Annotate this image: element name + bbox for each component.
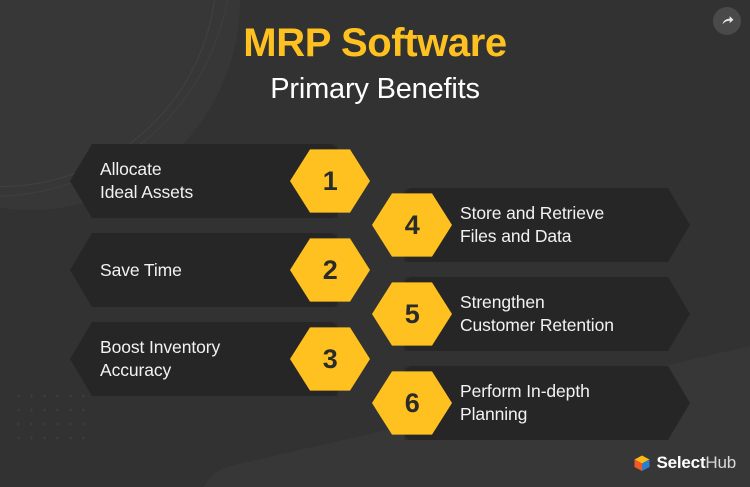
benefit-number: 5 (405, 301, 420, 328)
hexagon-badge-2[interactable]: 2 (290, 237, 370, 303)
selecthub-logo[interactable]: SelectHub (633, 453, 736, 473)
logo-wordmark: SelectHub (657, 453, 736, 473)
benefit-number: 6 (405, 390, 420, 417)
benefit-row-3[interactable]: Boost InventoryAccuracy 3 (70, 322, 370, 396)
benefit-badge[interactable]: 6 (372, 370, 452, 436)
benefit-label: AllocateIdeal Assets (100, 158, 193, 204)
benefit-badge[interactable]: 2 (290, 237, 370, 303)
benefit-number: 1 (323, 168, 338, 195)
benefit-row-1[interactable]: AllocateIdeal Assets 1 (70, 144, 370, 218)
title-subtitle: Primary Benefits (0, 69, 750, 109)
benefit-badge[interactable]: 3 (290, 326, 370, 392)
hexagon-badge-1[interactable]: 1 (290, 148, 370, 214)
hexagon-badge-3[interactable]: 3 (290, 326, 370, 392)
benefit-badge[interactable]: 5 (372, 281, 452, 347)
share-button[interactable] (713, 7, 741, 35)
hexagon-badge-4[interactable]: 4 (372, 192, 452, 258)
hexagon-badge-5[interactable]: 5 (372, 281, 452, 347)
benefit-badge[interactable]: 1 (290, 148, 370, 214)
benefit-row-6[interactable]: Perform In-depthPlanning 6 (372, 366, 690, 440)
logo-hub-text: Hub (705, 453, 736, 472)
logo-select-text: Select (657, 453, 706, 472)
benefit-badge[interactable]: 4 (372, 192, 452, 258)
page-title: MRP Software Primary Benefits (0, 18, 750, 109)
benefit-label: Store and RetrieveFiles and Data (460, 202, 604, 248)
benefit-label: Boost InventoryAccuracy (100, 336, 220, 382)
benefit-label: Save Time (100, 259, 182, 282)
hexagon-badge-6[interactable]: 6 (372, 370, 452, 436)
share-arrow-icon (720, 14, 735, 29)
benefit-row-2[interactable]: Save Time 2 (70, 233, 370, 307)
benefit-row-4[interactable]: Store and RetrieveFiles and Data 4 (372, 188, 690, 262)
benefit-number: 4 (405, 212, 420, 239)
title-main: MRP Software (0, 18, 750, 68)
infographic-canvas: MRP Software Primary Benefits AllocateId… (0, 0, 750, 487)
benefit-label: StrengthenCustomer Retention (460, 291, 614, 337)
benefit-number: 3 (323, 346, 338, 373)
benefit-row-5[interactable]: StrengthenCustomer Retention 5 (372, 277, 690, 351)
benefit-number: 2 (323, 257, 338, 284)
selecthub-cube-icon (633, 454, 651, 472)
benefit-label: Perform In-depthPlanning (460, 380, 590, 426)
